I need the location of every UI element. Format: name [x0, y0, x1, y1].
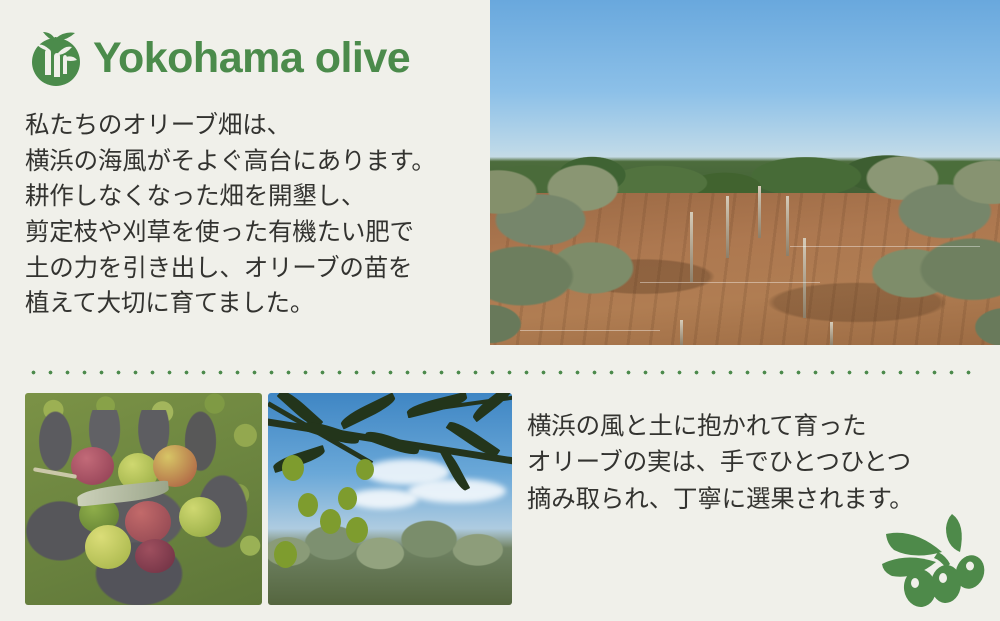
photo-olive-fruit — [71, 447, 114, 485]
photo-olive-fruit — [338, 487, 357, 510]
intro-line: 剪定枝や刈草を使った有機たい肥で — [25, 214, 480, 250]
photo-support-post — [758, 186, 761, 238]
closing-line: オリーブの実は、手でひとつひとつ — [527, 444, 957, 480]
photo-olive-fruit — [135, 539, 175, 573]
photo-olive-hedge — [268, 516, 512, 605]
top-section: Yokohama olive 私たちのオリーブ畑は、 横浜の海風がそよぐ高台にあ… — [0, 0, 1000, 355]
closing-paragraph: 横浜の風と土に抱かれて育った オリーブの実は、手でひとつひとつ 摘み取られ、丁寧… — [527, 408, 957, 517]
photo-right-canopy — [785, 145, 1000, 345]
olive-branch-ornament-icon — [880, 508, 985, 608]
photo-olive-fruit — [346, 517, 368, 543]
photo-support-post — [830, 322, 833, 345]
olive-tree-circle-logo-icon — [25, 27, 87, 89]
olives-on-branch-sky-photo — [268, 393, 512, 605]
photo-support-post — [680, 320, 683, 345]
photo-olive-fruit — [356, 459, 374, 480]
photo-support-post — [690, 212, 693, 282]
intro-line: 耕作しなくなった畑を開墾し、 — [25, 178, 480, 214]
photo-irrigation-line — [520, 330, 660, 331]
brand-row: Yokohama olive — [25, 25, 480, 91]
photo-olive-fruit — [125, 501, 171, 543]
olive-orchard-rows-photo — [490, 0, 1000, 345]
dotted-divider — [25, 370, 975, 375]
intro-line: 私たちのオリーブ畑は、 — [25, 107, 480, 143]
intro-line: 横浜の海風がそよぐ高台にあります。 — [25, 143, 480, 179]
gloved-hand-holding-olives-photo — [25, 393, 262, 605]
photo-irrigation-line — [790, 246, 980, 247]
photo-olive-fruit — [298, 493, 318, 517]
photo-olive-fruit — [85, 525, 131, 569]
photo-olive-fruit — [179, 497, 221, 537]
photo-support-post — [726, 196, 729, 258]
photo-cloud — [348, 489, 418, 509]
photo-olive-fruit — [282, 455, 304, 481]
photo-irrigation-line — [640, 282, 820, 283]
photo-support-post — [786, 196, 789, 256]
photo-olive-fruit — [274, 541, 297, 568]
photo-left-canopy — [490, 152, 705, 345]
photo-support-post — [803, 238, 806, 318]
intro-line: 土の力を引き出し、オリーブの苗を — [25, 250, 480, 286]
photo-olive-fruit — [320, 509, 341, 534]
closing-line: 横浜の風と土に抱かれて育った — [527, 408, 957, 444]
intro-paragraph: 私たちのオリーブ畑は、 横浜の海風がそよぐ高台にあります。 耕作しなくなった畑を… — [25, 107, 480, 321]
intro-line: 植えて大切に育てました。 — [25, 285, 480, 321]
brand-block: Yokohama olive 私たちのオリーブ畑は、 横浜の海風がそよぐ高台にあ… — [25, 25, 480, 321]
brand-wordmark: Yokohama olive — [93, 37, 410, 80]
